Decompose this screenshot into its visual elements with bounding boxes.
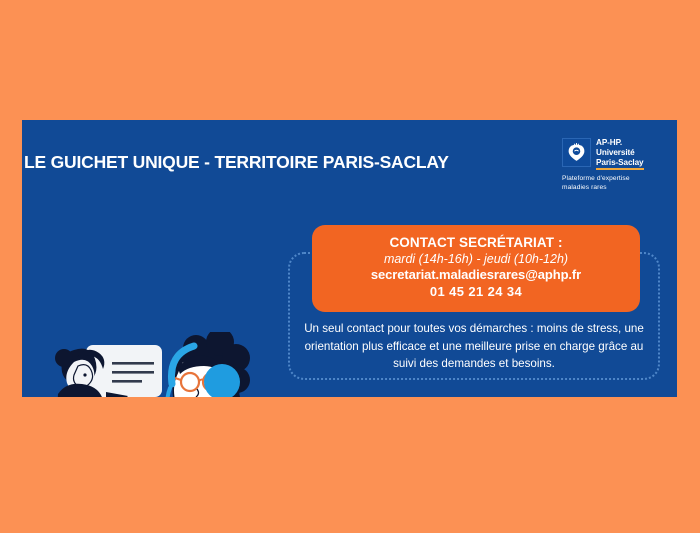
agent-figure-group xyxy=(158,332,291,397)
speech-bubble-group xyxy=(55,345,162,397)
logo-tagline-line1: Plateforme d'expertise xyxy=(562,174,680,183)
logo-tagline-line2: maladies rares xyxy=(562,183,680,192)
aphp-heart-logo-icon xyxy=(562,138,591,167)
call-center-agent-illustration xyxy=(44,332,294,397)
page-title: LE GUICHET UNIQUE - TERRITOIRE PARIS-SAC… xyxy=(24,152,449,173)
logo-line-paris-saclay: Paris-Saclay xyxy=(596,158,644,170)
contact-hours: mardi (14h-16h) - jeudi (10h-12h) xyxy=(312,251,640,267)
contact-phone[interactable]: 01 45 21 24 34 xyxy=(312,284,640,301)
contact-email[interactable]: secretariat.maladiesrares@aphp.fr xyxy=(312,267,640,284)
logo-tagline: Plateforme d'expertise maladies rares xyxy=(562,174,680,192)
contact-card[interactable]: CONTACT SECRÉTARIAT : mardi (14h-16h) - … xyxy=(312,225,640,312)
aphp-logo-block[interactable]: AP-HP. Université Paris-Saclay Plateform… xyxy=(562,138,680,196)
logo-top-row: AP-HP. Université Paris-Saclay xyxy=(562,138,680,170)
logo-line-universite: Université xyxy=(596,148,644,158)
logo-line-aphp: AP-HP. xyxy=(596,138,644,148)
logo-wordmark: AP-HP. Université Paris-Saclay xyxy=(596,138,644,170)
description-text: Un seul contact pour toutes vos démarche… xyxy=(294,320,654,373)
contact-heading: CONTACT SECRÉTARIAT : xyxy=(312,234,640,251)
